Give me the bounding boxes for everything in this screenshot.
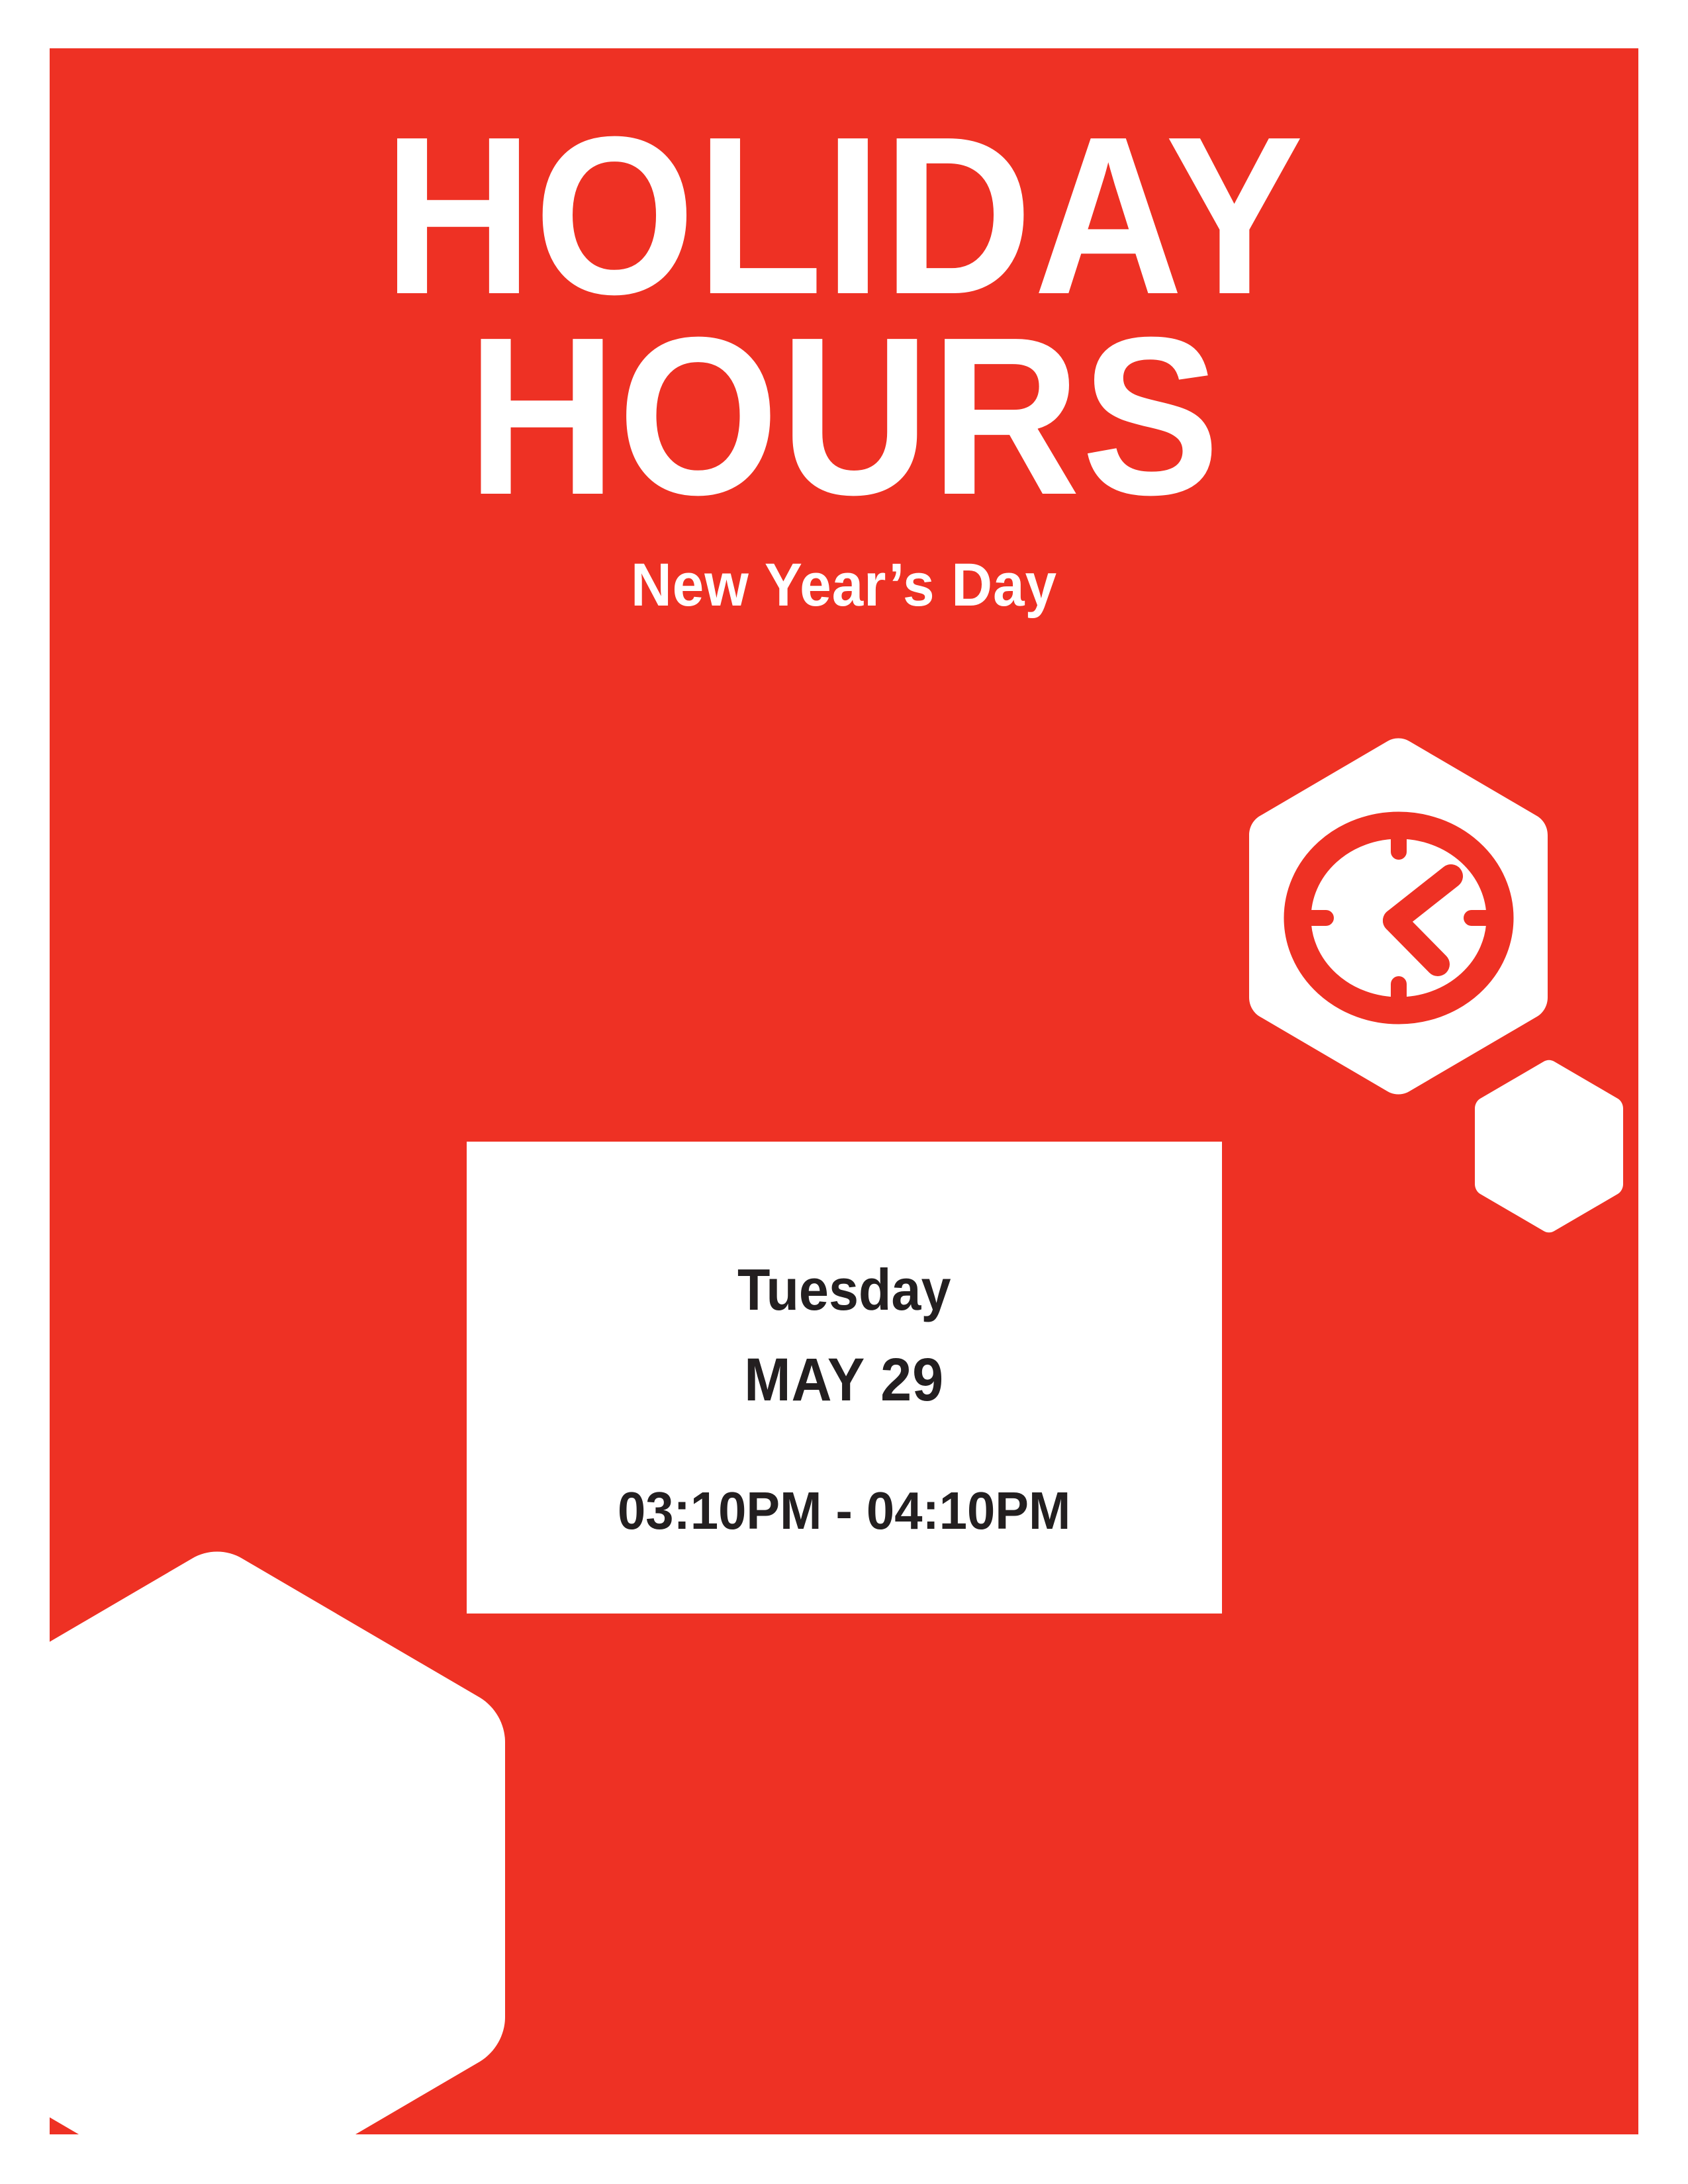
clock-hexagon-icon [1248,736,1549,1097]
clock-badge [1248,736,1549,1097]
headline-block: HOLIDAY HOURS New Year’s Day [50,116,1638,620]
poster-title-line-2: HOURS [113,316,1575,517]
hexagon-accent-icon [1473,1058,1625,1235]
poster-subtitle: New Year’s Day [105,551,1583,620]
poster-canvas: HOLIDAY HOURS New Year’s Day Tuesday MAY… [0,0,1688,2184]
event-time-range: 03:10PM - 04:10PM [618,1484,1070,1537]
event-date: MAY 29 [745,1349,945,1410]
event-info-card: Tuesday MAY 29 03:10PM - 04:10PM [467,1142,1222,1614]
event-weekday: Tuesday [737,1261,951,1319]
poster-title-line-1: HOLIDAY [113,116,1575,316]
